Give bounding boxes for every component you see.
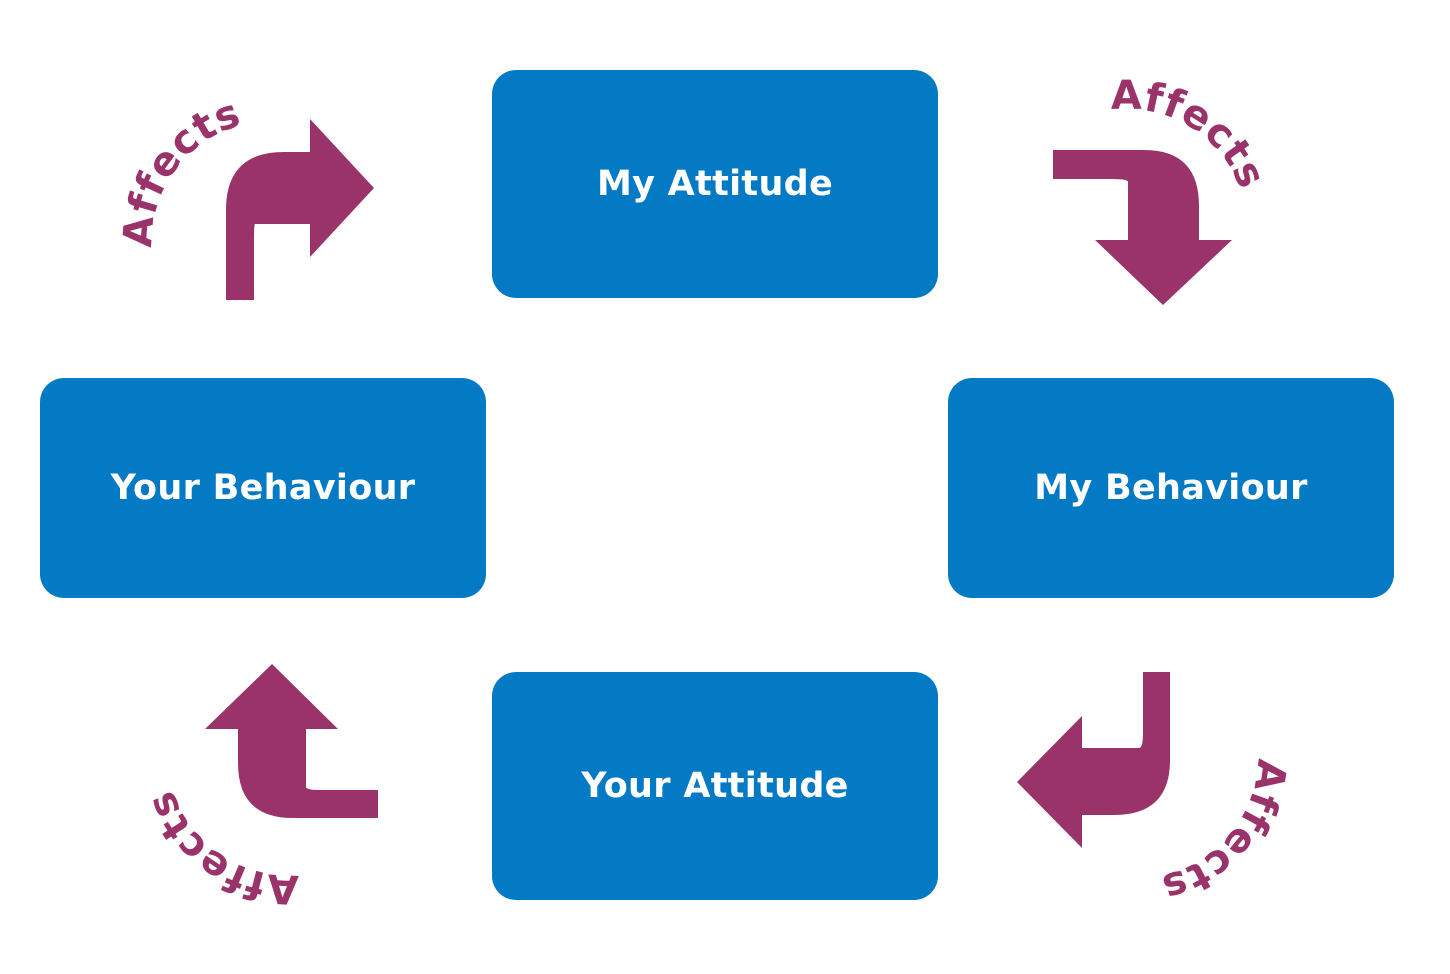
connector-label-top-left: Affects (115, 90, 247, 249)
connector-bottom-left: Affects (138, 664, 378, 912)
affects-label-top-right: Affects (1111, 73, 1275, 195)
node-your-attitude-label: Your Attitude (581, 767, 848, 806)
node-my-behaviour-label: My Behaviour (1034, 469, 1307, 508)
curved-arrow-icon (1053, 150, 1232, 305)
node-your-behaviour-label: Your Behaviour (111, 469, 416, 508)
curved-arrow-icon (1017, 672, 1170, 848)
curved-arrow-icon (226, 119, 374, 300)
affects-label-bottom-left: Affects (138, 784, 299, 912)
node-my-attitude[interactable]: My Attitude (492, 70, 938, 298)
svg-text:Affects: Affects (115, 90, 247, 249)
node-your-behaviour[interactable]: Your Behaviour (40, 378, 486, 598)
connector-top-left: Affects (115, 90, 374, 300)
node-my-attitude-label: My Attitude (597, 165, 833, 204)
svg-text:Affects: Affects (138, 784, 299, 912)
affects-label-top-left: Affects (115, 90, 247, 249)
connector-top-right: Affects (1053, 73, 1275, 305)
node-your-attitude[interactable]: Your Attitude (492, 672, 938, 900)
svg-text:Affects: Affects (1111, 73, 1275, 195)
diagram-canvas: Affects Affects Affects (0, 0, 1450, 974)
connector-bottom-right: Affects (1017, 672, 1295, 911)
connector-label-top-right: Affects (1111, 73, 1275, 195)
connector-label-bottom-right: Affects (1157, 757, 1295, 912)
curved-arrow-icon (205, 664, 378, 818)
affects-label-bottom-right: Affects (1157, 757, 1295, 912)
svg-text:Affects: Affects (1157, 757, 1295, 912)
connector-label-bottom-left: Affects (138, 784, 299, 912)
node-my-behaviour[interactable]: My Behaviour (948, 378, 1394, 598)
